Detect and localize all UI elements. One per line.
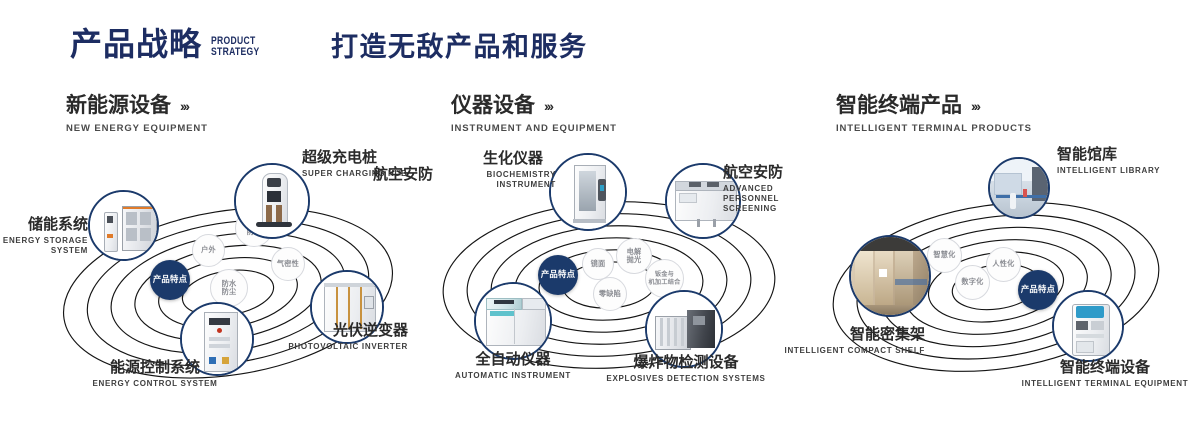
node-intelligent-terminal-equipment[interactable] [1052, 290, 1124, 362]
section-heading-cn: 智能终端产品 ››› [836, 95, 1032, 116]
page-title-en: PRODUCT STRATEGY [211, 36, 260, 58]
feature-chip-intelligent: 智慧化 [927, 238, 962, 273]
feature-chip-zero-defect: 零缺陷 [593, 277, 627, 311]
label-intelligent-terminal-equipment: 智能终端设备 INTELLIGENT TERMINAL EQUIPMENT [1010, 360, 1200, 389]
label-aviation-security-left: 航空安防 [333, 167, 433, 183]
label-energy-storage-system: 储能系统 ENERGY STORAGE SYSTEM [0, 217, 88, 256]
section-heading-intelligent-terminal: 智能终端产品 ››› INTELLIGENT TERMINAL PRODUCTS [836, 95, 1032, 134]
page-title: 产品战略 PRODUCT STRATEGY [70, 28, 273, 60]
feature-chip-airtight: 气密性 [271, 247, 305, 281]
section-heading-en: NEW ENERGY EQUIPMENT [66, 123, 208, 134]
feature-chip-outdoor: 户外 [192, 234, 225, 267]
section-heading-cn-text: 智能终端产品 [836, 95, 962, 116]
node-energy-storage-system[interactable] [88, 190, 159, 261]
label-biochemistry-instrument: 生化仪器 BIOCHEMISTRY INSTRUMENT [470, 151, 556, 190]
cluster-intelligent-terminal: 产品特点 智慧化 数字化 人性化 [800, 155, 1200, 405]
label-energy-control-system: 能源控制系统 ENERGY CONTROL SYSTEM [60, 360, 250, 389]
label-intelligent-library: 智能馆库 INTELLIGENT LIBRARY [1057, 147, 1160, 176]
node-automatic-instrument[interactable] [474, 282, 552, 360]
infographic-canvas: 产品战略 PRODUCT STRATEGY 打造无敌产品和服务 新能源设备 ››… [0, 0, 1200, 422]
section-heading-en: INSTRUMENT AND EQUIPMENT [451, 123, 617, 134]
chevron-right-icon: ››› [180, 99, 188, 113]
feature-chip-mirror-finish: 镜面 [582, 248, 614, 280]
node-intelligent-compact-shelf[interactable] [849, 235, 931, 317]
section-heading-cn-text: 新能源设备 [66, 95, 171, 116]
chevron-right-icon: ››› [971, 99, 979, 113]
feature-chip-humanized: 人性化 [986, 247, 1021, 282]
center-chip-product-features: 产品特点 [1018, 270, 1058, 310]
label-intelligent-compact-shelf: 智能密集架 INTELLIGENT COMPACT SHELF [780, 327, 925, 356]
label-photovoltaic-inverter: 光伏逆变器 PHOTOVOLTAIC INVERTER [258, 323, 408, 352]
section-heading-cn: 仪器设备 ››› [451, 95, 617, 116]
page-subtitle: 打造无敌产品和服务 [331, 34, 588, 61]
node-super-charging-hub[interactable] [234, 163, 310, 239]
node-biochemistry-instrument[interactable] [549, 153, 627, 231]
feature-chip-digital: 数字化 [955, 265, 990, 300]
label-explosives-detection-systems: 爆炸物检测设备 EXPLOSIVES DETECTION SYSTEMS [595, 355, 777, 384]
section-heading-cn-text: 仪器设备 [451, 95, 535, 116]
section-heading-instrument: 仪器设备 ››› INSTRUMENT AND EQUIPMENT [451, 95, 617, 134]
cluster-instrument: 产品特点 镜面 电解 抛光 零缺陷 钣金与 机加工结合 [413, 155, 813, 405]
label-automatic-instrument: 全自动仪器 AUTOMATIC INSTRUMENT [433, 352, 593, 381]
center-chip-product-features: 产品特点 [150, 260, 190, 300]
section-heading-cn: 新能源设备 ››› [66, 95, 208, 116]
page-title-en-line2: STRATEGY [211, 46, 260, 58]
page-title-cn: 产品战略 [70, 28, 202, 60]
node-intelligent-library[interactable] [988, 157, 1050, 219]
cluster-new-energy: 产品特点 户外 防腐 防锈 防水 防尘 气密性 [28, 155, 428, 405]
chevron-right-icon: ››› [544, 99, 552, 113]
section-heading-new-energy: 新能源设备 ››› NEW ENERGY EQUIPMENT [66, 95, 208, 134]
section-heading-en: INTELLIGENT TERMINAL PRODUCTS [836, 123, 1032, 134]
